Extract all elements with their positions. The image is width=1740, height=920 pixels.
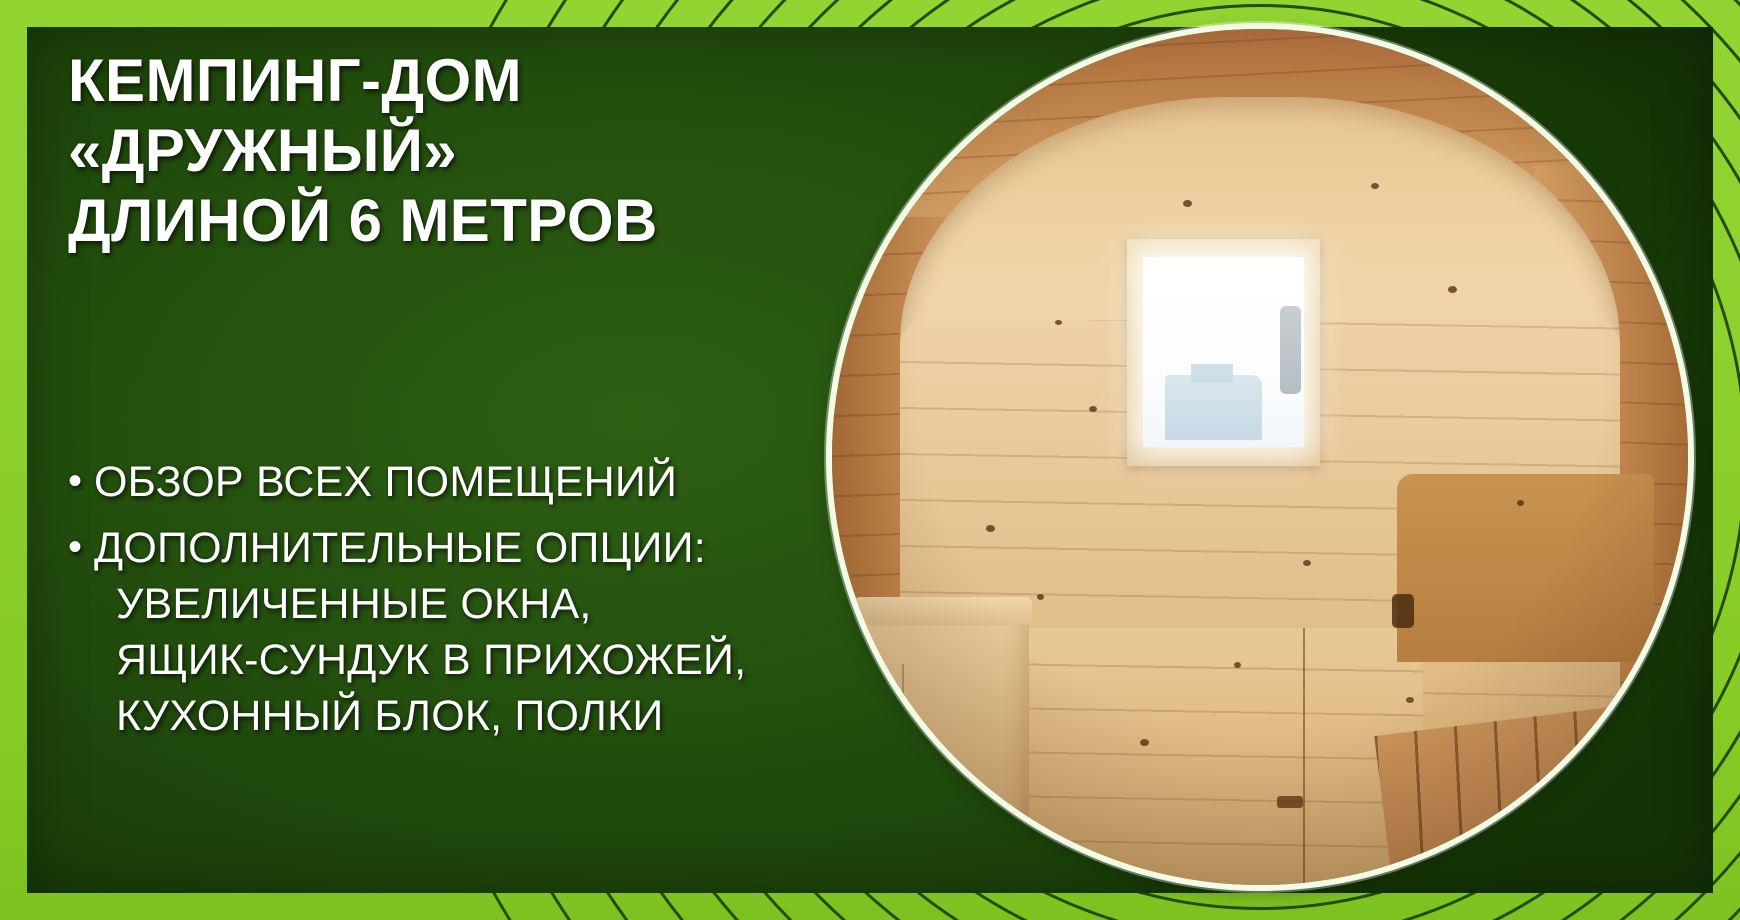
- photo-vignette: [832, 29, 1688, 885]
- list-item-text: ОБЗОР ВСЕХ ПОМЕЩЕНИЙ: [94, 455, 858, 511]
- feature-list: • ОБЗОР ВСЕХ ПОМЕЩЕНИЙ • ДОПОЛНИТЕЛЬНЫЕ …: [68, 455, 858, 754]
- headline-line-1: КЕМПИНГ-ДОМ: [68, 46, 808, 116]
- circular-photo: [832, 29, 1688, 885]
- headline-line-2: «ДРУЖНЫЙ»: [68, 116, 808, 186]
- promo-banner: КЕМПИНГ-ДОМ «ДРУЖНЫЙ» ДЛИНОЙ 6 МЕТРОВ • …: [0, 0, 1740, 920]
- page-title: КЕМПИНГ-ДОМ «ДРУЖНЫЙ» ДЛИНОЙ 6 МЕТРОВ: [68, 46, 808, 257]
- list-item-line: УВЕЛИЧЕННЫЕ ОКНА,: [116, 577, 858, 633]
- list-item-line: ЯЩИК-СУНДУК В ПРИХОЖЕЙ,: [116, 633, 858, 689]
- headline-block: КЕМПИНГ-ДОМ «ДРУЖНЫЙ» ДЛИНОЙ 6 МЕТРОВ: [68, 46, 808, 257]
- bullet-dot-icon: •: [68, 455, 94, 507]
- list-item-text: ДОПОЛНИТЕЛЬНЫЕ ОПЦИИ: УВЕЛИЧЕННЫЕ ОКНА, …: [94, 521, 858, 745]
- list-item: • ДОПОЛНИТЕЛЬНЫЕ ОПЦИИ: УВЕЛИЧЕННЫЕ ОКНА…: [68, 521, 858, 745]
- list-item-line: КУХОННЫЙ БЛОК, ПОЛКИ: [116, 689, 858, 745]
- bullet-dot-icon: •: [68, 521, 94, 573]
- headline-line-3: ДЛИНОЙ 6 МЕТРОВ: [68, 186, 808, 256]
- list-item: • ОБЗОР ВСЕХ ПОМЕЩЕНИЙ: [68, 455, 858, 511]
- list-item-line: ДОПОЛНИТЕЛЬНЫЕ ОПЦИИ:: [94, 524, 706, 572]
- cabin-interior-image: [832, 29, 1688, 885]
- list-item-line: ОБЗОР ВСЕХ ПОМЕЩЕНИЙ: [94, 458, 677, 506]
